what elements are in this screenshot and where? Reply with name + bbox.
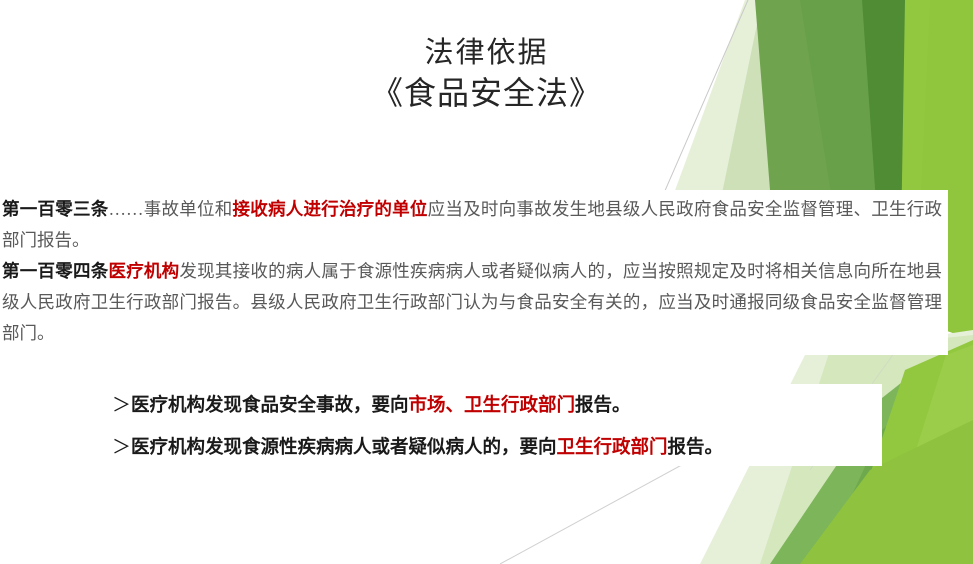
law-paragraph-104: 第一百零四条医疗机构发现其接收的病人属于食源性疾病病人或者疑似病人的，应当按照规…	[0, 256, 948, 349]
title-line-2: 《食品安全法》	[0, 72, 973, 114]
summary-bullet-2: ＞医疗机构发现食源性疾病病人或者疑似病人的，要向卫生行政部门报告。	[112, 426, 872, 468]
article-number-103: 第一百零三条	[2, 199, 108, 219]
slide-canvas: 法律依据 《食品安全法》 第一百零三条……事故单位和接收病人进行治疗的单位应当及…	[0, 0, 973, 564]
hairline-bottom	[500, 455, 700, 564]
shape-bottom-bright-green-2	[880, 345, 973, 564]
bullet-marker-icon: ＞	[112, 437, 131, 458]
law-104-highlight-1: 医疗机构	[108, 261, 179, 281]
summary-2-segment-2: 报告。	[668, 436, 724, 457]
summary-1-segment-2: 报告。	[575, 394, 631, 415]
summary-1-segment-1: 医疗机构发现食品安全事故，要向	[131, 394, 409, 415]
summary-bullet-1: ＞医疗机构发现食品安全事故，要向市场、卫生行政部门报告。	[112, 384, 872, 426]
page-title: 法律依据 《食品安全法》	[0, 34, 973, 114]
summary-list: ＞医疗机构发现食品安全事故，要向市场、卫生行政部门报告。 ＞医疗机构发现食源性疾…	[112, 384, 872, 468]
summary-2-highlight-1: 卫生行政部门	[557, 436, 668, 457]
law-103-segment-1: ……事故单位和	[108, 199, 232, 219]
article-number-104: 第一百零四条	[2, 261, 108, 281]
summary-1-highlight-1: 市场、卫生行政部门	[409, 394, 576, 415]
law-text-card: 第一百零三条……事故单位和接收病人进行治疗的单位应当及时向事故发生地县级人民政府…	[0, 190, 948, 355]
title-line-1: 法律依据	[0, 34, 973, 72]
summary-2-segment-1: 医疗机构发现食源性疾病病人或者疑似病人的，要向	[131, 436, 557, 457]
summary-card: ＞医疗机构发现食品安全事故，要向市场、卫生行政部门报告。 ＞医疗机构发现食源性疾…	[0, 384, 882, 466]
law-paragraph-103: 第一百零三条……事故单位和接收病人进行治疗的单位应当及时向事故发生地县级人民政府…	[0, 194, 948, 256]
bullet-marker-icon: ＞	[112, 395, 131, 416]
law-103-highlight-1: 接收病人进行治疗的单位	[232, 199, 427, 219]
